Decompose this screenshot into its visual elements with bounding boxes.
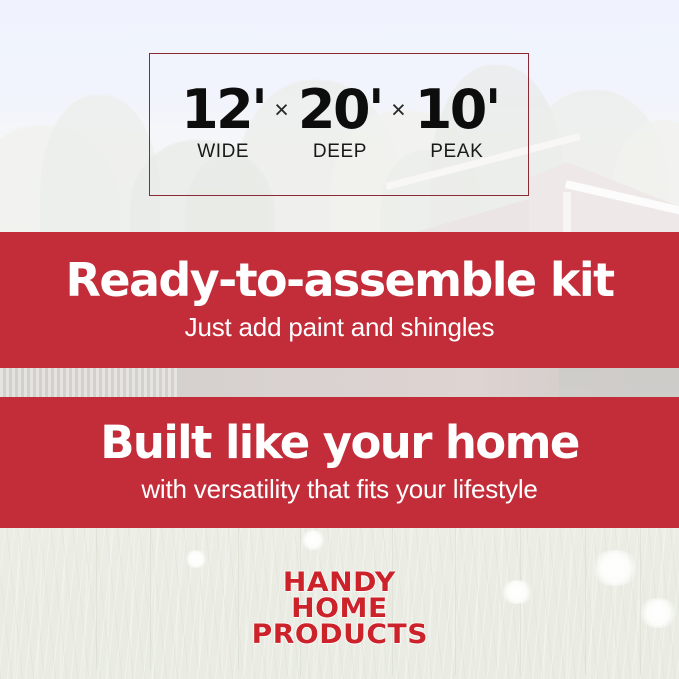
banner-1-title: Ready-to-assemble kit bbox=[66, 257, 614, 304]
dimension-label-peak: PEAK bbox=[430, 141, 483, 163]
dimension-value-peak: 10' bbox=[415, 84, 499, 136]
dimension-separator-2: × bbox=[382, 96, 415, 125]
dimensions-callout-box: 12' WIDE × 20' DEEP × 10' PEAK bbox=[149, 53, 529, 196]
dimension-deep: 20' DEEP bbox=[298, 84, 382, 163]
banner-2-title: Built like your home bbox=[100, 420, 579, 466]
banner-1-subtitle: Just add paint and shingles bbox=[185, 312, 495, 343]
logo-line-products: PRODUCTS bbox=[251, 622, 427, 648]
banner-2-subtitle: with versatility that fits your lifestyl… bbox=[141, 474, 537, 505]
feature-banner-built-like-your-home: Built like your home with versatility th… bbox=[0, 397, 679, 528]
feature-banner-ready-to-assemble: Ready-to-assemble kit Just add paint and… bbox=[0, 232, 679, 368]
dimension-label-wide: WIDE bbox=[197, 141, 249, 163]
dimension-wide: 12' WIDE bbox=[181, 84, 265, 163]
dimension-value-wide: 12' bbox=[181, 84, 265, 136]
dimension-separator-1: × bbox=[265, 96, 298, 125]
dimension-label-deep: DEEP bbox=[313, 141, 367, 163]
dimension-value-deep: 20' bbox=[298, 84, 382, 136]
dimension-peak: 10' PEAK bbox=[415, 84, 499, 163]
product-infographic: 12' WIDE × 20' DEEP × 10' PEAK Ready-to-… bbox=[0, 0, 679, 679]
dimensions-row: 12' WIDE × 20' DEEP × 10' PEAK bbox=[150, 84, 530, 163]
brand-logo-handy-home-products: HANDY HOME PRODUCTS bbox=[0, 570, 679, 648]
